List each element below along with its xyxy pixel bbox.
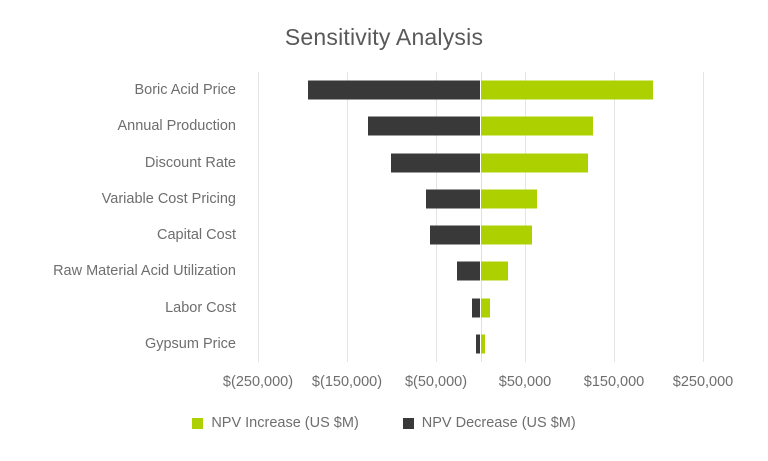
x-axis-tick-label-4: $150,000 [584, 370, 644, 394]
bar-row [258, 145, 703, 181]
bar-npv-decrease[interactable] [457, 262, 480, 281]
sensitivity-analysis-chart: Sensitivity Analysis Boric Acid PriceAnn… [0, 0, 768, 461]
bar-npv-increase[interactable] [481, 117, 593, 136]
x-axis-tick-labels: $(250,000)$(150,000)$(50,000)$50,000$150… [0, 370, 768, 394]
y-axis-label-6: Labor Cost [165, 290, 236, 326]
y-axis-label-4: Capital Cost [157, 217, 236, 253]
y-axis-label-5: Raw Material Acid Utilization [53, 253, 236, 289]
legend-label-1: NPV Decrease (US $M) [422, 415, 576, 431]
bar-row [258, 108, 703, 144]
y-axis-label-1: Annual Production [118, 108, 237, 144]
chart-title: Sensitivity Analysis [0, 22, 768, 52]
bar-npv-increase[interactable] [481, 226, 533, 245]
bar-row [258, 290, 703, 326]
bar-row [258, 253, 703, 289]
legend-swatch-npv-increase [192, 418, 203, 429]
bar-npv-decrease[interactable] [391, 153, 481, 172]
bar-npv-increase[interactable] [481, 81, 654, 100]
y-axis-label-7: Gypsum Price [145, 326, 236, 362]
y-axis-label-3: Variable Cost Pricing [102, 181, 236, 217]
legend-label-0: NPV Increase (US $M) [211, 415, 358, 431]
chart-legend: NPV Increase (US $M)NPV Decrease (US $M) [0, 415, 768, 431]
y-axis-category-labels: Boric Acid PriceAnnual ProductionDiscoun… [0, 72, 248, 362]
bar-row [258, 72, 703, 108]
bar-row [258, 181, 703, 217]
x-axis-tick-label-5: $250,000 [673, 370, 733, 394]
bar-npv-increase[interactable] [481, 298, 491, 317]
x-axis-tick-label-1: $(150,000) [312, 370, 382, 394]
x-axis-tick-label-3: $50,000 [499, 370, 551, 394]
bar-npv-increase[interactable] [481, 262, 509, 281]
legend-item-0[interactable]: NPV Increase (US $M) [192, 415, 358, 431]
bar-npv-decrease[interactable] [472, 298, 481, 317]
legend-item-1[interactable]: NPV Decrease (US $M) [403, 415, 576, 431]
x-axis-tick-label-0: $(250,000) [223, 370, 293, 394]
bar-npv-decrease[interactable] [426, 189, 480, 208]
bar-row [258, 217, 703, 253]
bar-npv-increase[interactable] [481, 189, 537, 208]
legend-swatch-npv-decrease [403, 418, 414, 429]
bar-npv-decrease[interactable] [430, 226, 481, 245]
bar-npv-decrease[interactable] [368, 117, 480, 136]
y-axis-label-2: Discount Rate [145, 145, 236, 181]
bar-npv-decrease[interactable] [308, 81, 481, 100]
bar-npv-increase[interactable] [481, 334, 486, 353]
plot-area [258, 72, 703, 362]
bar-row [258, 326, 703, 362]
y-axis-label-0: Boric Acid Price [134, 72, 236, 108]
gridline-5 [703, 72, 704, 362]
x-axis-tick-label-2: $(50,000) [405, 370, 467, 394]
bar-npv-increase[interactable] [481, 153, 589, 172]
